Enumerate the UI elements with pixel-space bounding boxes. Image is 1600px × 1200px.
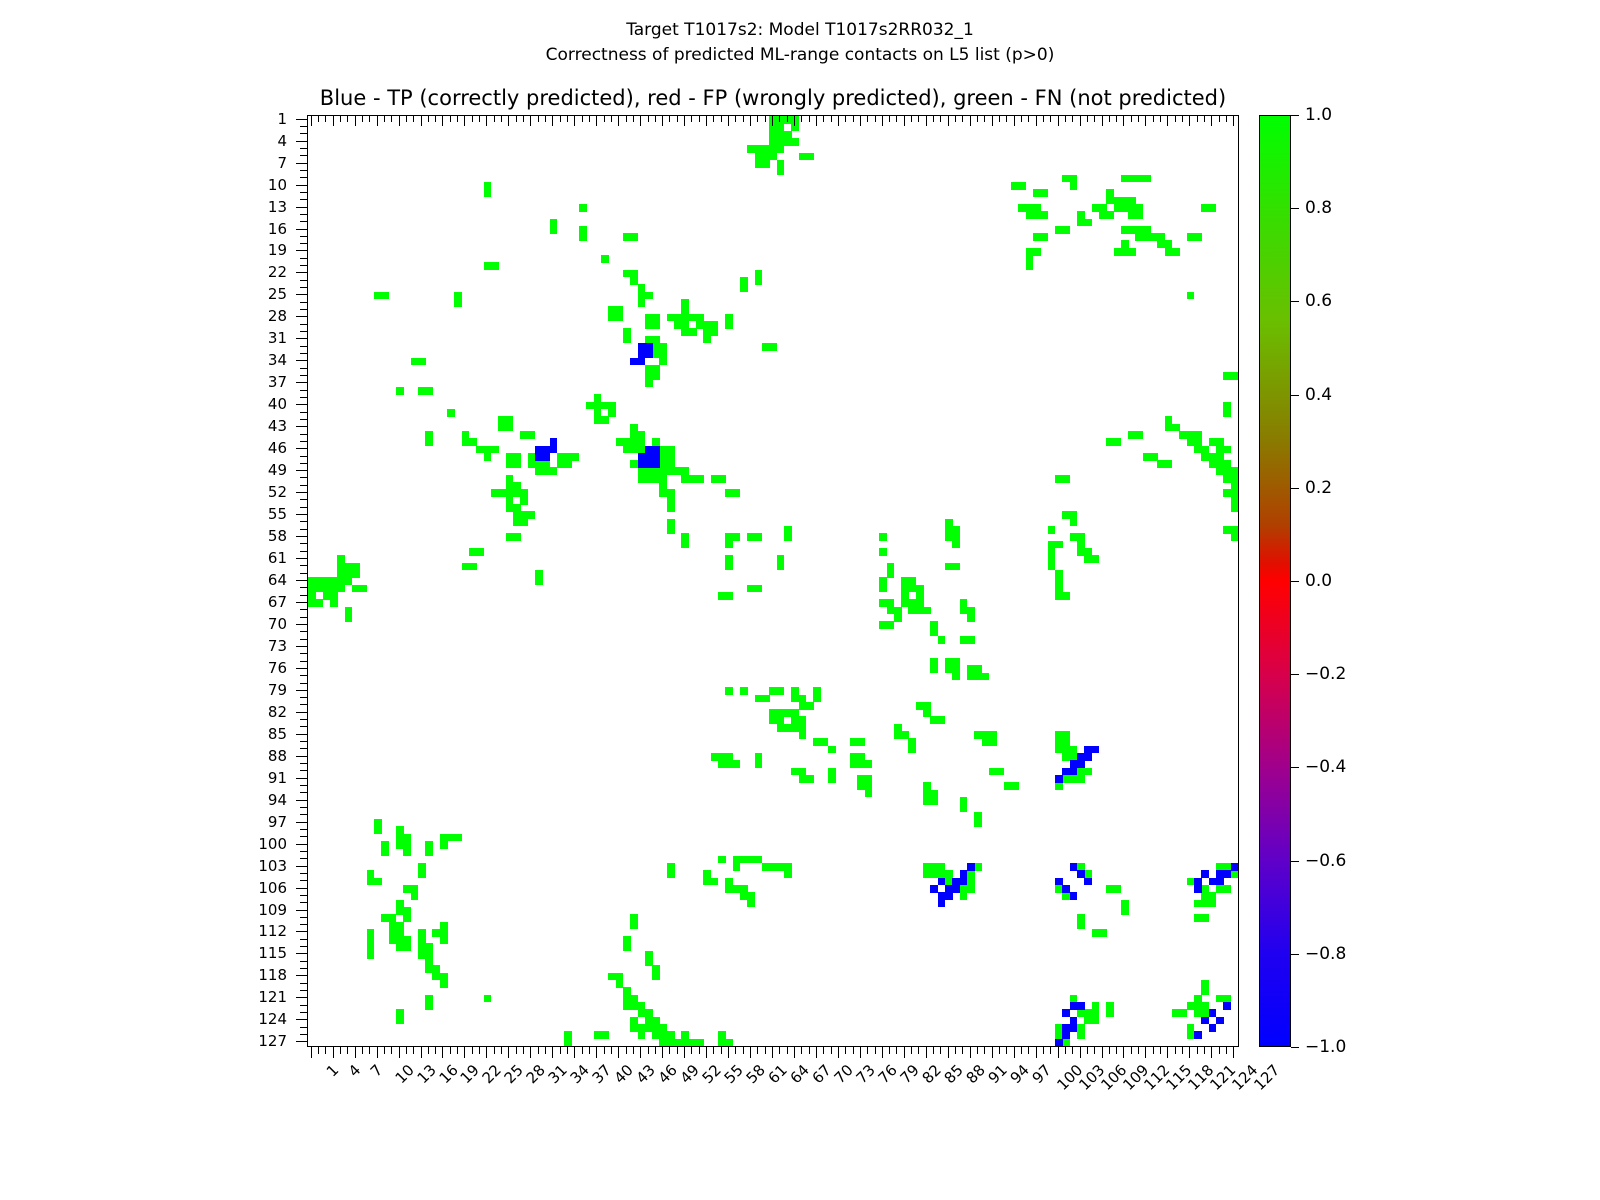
x-tick-top bbox=[926, 115, 927, 126]
x-tick-top bbox=[369, 115, 370, 122]
x-tick-top bbox=[1197, 115, 1198, 122]
contact-cell-fn bbox=[879, 585, 887, 593]
contact-cell-fn bbox=[1231, 489, 1239, 497]
x-tick-major bbox=[1102, 1047, 1103, 1058]
y-tick-minor bbox=[300, 441, 307, 442]
x-tick-top bbox=[311, 115, 312, 126]
x-tick-major bbox=[1058, 1047, 1059, 1058]
y-tick-label: 118 bbox=[258, 966, 287, 984]
contact-cell-fn bbox=[755, 760, 763, 768]
x-tick-minor bbox=[472, 1047, 473, 1054]
contact-cell-fn bbox=[1106, 189, 1114, 197]
contact-cell-fn bbox=[1055, 541, 1063, 549]
y-tick-major bbox=[296, 800, 307, 801]
contact-cell-tp bbox=[1055, 775, 1063, 783]
x-tick-top bbox=[896, 115, 897, 122]
x-tick-minor bbox=[933, 1047, 934, 1054]
x-tick-minor bbox=[523, 1047, 524, 1054]
y-tick-minor bbox=[300, 983, 307, 984]
contact-cell-tp bbox=[652, 460, 660, 468]
y-tick-minor bbox=[300, 170, 307, 171]
x-tick-top bbox=[1036, 115, 1037, 126]
y-tick-minor bbox=[300, 726, 307, 727]
contact-cell-fn bbox=[403, 936, 411, 944]
y-tick-major bbox=[296, 975, 307, 976]
contact-cell-fn bbox=[930, 790, 938, 798]
x-tick-minor bbox=[1072, 1047, 1073, 1054]
x-tick-top bbox=[633, 115, 634, 122]
x-tick-major bbox=[838, 1047, 839, 1058]
y-tick-minor bbox=[300, 968, 307, 969]
contact-cell-fn bbox=[982, 673, 990, 681]
contact-cell-tp bbox=[938, 878, 946, 886]
x-tick-minor bbox=[1021, 1047, 1022, 1054]
y-tick-major bbox=[296, 163, 307, 164]
contact-cell-fn bbox=[337, 570, 345, 578]
y-tick-minor bbox=[300, 661, 307, 662]
contact-cell-fn bbox=[535, 577, 543, 585]
x-tick-top bbox=[1160, 115, 1161, 122]
x-tick-top bbox=[648, 115, 649, 122]
x-tick-major bbox=[1211, 1047, 1212, 1058]
y-tick-minor bbox=[300, 148, 307, 149]
x-tick-major bbox=[992, 1047, 993, 1058]
contact-cell-fn bbox=[938, 636, 946, 644]
x-tick-minor bbox=[545, 1047, 546, 1054]
x-tick-top bbox=[970, 115, 971, 126]
y-tick-major bbox=[296, 229, 307, 230]
x-tick-top bbox=[1219, 115, 1220, 122]
contact-cell-fn bbox=[630, 438, 638, 446]
y-tick-minor bbox=[300, 397, 307, 398]
x-tick-minor bbox=[896, 1047, 897, 1054]
y-tick-minor bbox=[300, 280, 307, 281]
contact-cell-fn bbox=[623, 943, 631, 951]
x-tick-minor bbox=[875, 1047, 876, 1054]
y-tick-minor bbox=[300, 704, 307, 705]
x-tick-minor bbox=[589, 1047, 590, 1054]
colorbar-tick-label: −1.0 bbox=[1305, 1037, 1346, 1057]
contact-cell-fn bbox=[1114, 248, 1122, 256]
y-tick-minor bbox=[300, 961, 307, 962]
x-tick-top bbox=[831, 115, 832, 122]
x-tick-top bbox=[889, 115, 890, 122]
contact-cell-tp bbox=[1201, 870, 1209, 878]
x-axis-top-ticks bbox=[307, 115, 1239, 132]
colorbar-tick-label: −0.4 bbox=[1305, 757, 1346, 777]
x-tick-top bbox=[765, 115, 766, 122]
x-tick-label: 4 bbox=[344, 1061, 363, 1080]
x-tick-major bbox=[1036, 1047, 1037, 1058]
x-tick-minor bbox=[1197, 1047, 1198, 1054]
x-tick-major bbox=[311, 1047, 312, 1058]
y-tick-label: 94 bbox=[268, 791, 287, 809]
contact-cell-fn bbox=[506, 424, 514, 432]
contact-cell-fn bbox=[806, 702, 814, 710]
x-tick-top bbox=[684, 115, 685, 126]
contact-cell-fn bbox=[681, 541, 689, 549]
x-tick-top bbox=[713, 115, 714, 122]
x-tick-label: 1 bbox=[322, 1061, 341, 1080]
contact-cell-fn bbox=[755, 277, 763, 285]
y-tick-minor bbox=[300, 785, 307, 786]
contact-cell-fn bbox=[1062, 475, 1070, 483]
x-tick-top bbox=[699, 115, 700, 122]
x-tick-top bbox=[933, 115, 934, 122]
y-tick-minor bbox=[300, 829, 307, 830]
x-tick-minor bbox=[516, 1047, 517, 1054]
x-tick-top bbox=[340, 115, 341, 122]
y-tick-minor bbox=[300, 807, 307, 808]
y-tick-major bbox=[296, 558, 307, 559]
contact-cell-fn bbox=[784, 870, 792, 878]
contact-cell-fn bbox=[1128, 211, 1136, 219]
contact-cell-fn bbox=[850, 760, 858, 768]
contact-cell-tp bbox=[1194, 1031, 1202, 1039]
contact-cell-tp bbox=[1062, 1031, 1070, 1039]
contact-cell-tp bbox=[1077, 760, 1085, 768]
contact-cell-fn bbox=[425, 438, 433, 446]
y-tick-minor bbox=[300, 331, 307, 332]
y-tick-minor bbox=[300, 529, 307, 530]
y-tick-label: 19 bbox=[268, 241, 287, 259]
y-tick-label: 46 bbox=[268, 439, 287, 457]
x-tick-major bbox=[706, 1047, 707, 1058]
x-tick-top bbox=[1189, 115, 1190, 126]
contact-cell-tp bbox=[967, 863, 975, 871]
contact-cell-fn bbox=[659, 358, 667, 366]
y-tick-minor bbox=[300, 880, 307, 881]
y-tick-minor bbox=[300, 814, 307, 815]
x-tick-minor bbox=[911, 1047, 912, 1054]
x-tick-top bbox=[1072, 115, 1073, 122]
y-tick-minor bbox=[300, 243, 307, 244]
x-tick-top bbox=[918, 115, 919, 122]
contact-cell-fn bbox=[418, 358, 426, 366]
contact-cell-fn bbox=[1084, 768, 1092, 776]
x-tick-top bbox=[1006, 115, 1007, 122]
colorbar-tick-label: 0.0 bbox=[1305, 571, 1332, 591]
x-tick-top bbox=[552, 115, 553, 126]
contact-cell-fn bbox=[777, 724, 785, 732]
contact-cell-tp bbox=[535, 453, 543, 461]
y-tick-minor bbox=[300, 573, 307, 574]
colorbar[interactable]: 1.00.80.60.40.20.0−0.2−0.4−0.6−0.8−1.0 bbox=[1259, 115, 1291, 1047]
x-tick-top bbox=[948, 115, 949, 126]
x-tick-top bbox=[618, 115, 619, 126]
y-tick-label: 28 bbox=[268, 307, 287, 325]
y-tick-label: 22 bbox=[268, 263, 287, 281]
contact-cell-fn bbox=[623, 336, 631, 344]
contact-map-plot[interactable] bbox=[307, 115, 1239, 1047]
x-tick-major bbox=[530, 1047, 531, 1058]
x-tick-top bbox=[1109, 115, 1110, 122]
y-tick-minor bbox=[300, 617, 307, 618]
y-tick-label: 43 bbox=[268, 417, 287, 435]
colorbar-tick-label: −0.2 bbox=[1305, 664, 1346, 684]
y-tick-major bbox=[296, 602, 307, 603]
contact-cell-tp bbox=[938, 900, 946, 908]
colorbar-tick-label: 0.2 bbox=[1305, 478, 1332, 498]
contact-cell-fn bbox=[1011, 782, 1019, 790]
x-tick-minor bbox=[984, 1047, 985, 1054]
contact-cell-fn bbox=[491, 446, 499, 454]
x-tick-minor bbox=[1131, 1047, 1132, 1054]
x-tick-top bbox=[479, 115, 480, 122]
x-tick-minor bbox=[1226, 1047, 1227, 1054]
x-tick-top bbox=[377, 115, 378, 126]
x-tick-top bbox=[801, 115, 802, 122]
colorbar-tick bbox=[1291, 208, 1299, 209]
y-tick-label: 64 bbox=[268, 571, 287, 589]
x-tick-top bbox=[911, 115, 912, 122]
contact-cell-fn bbox=[762, 145, 770, 153]
x-tick-top bbox=[611, 115, 612, 122]
x-tick-top bbox=[1123, 115, 1124, 126]
contact-cell-fn bbox=[498, 489, 506, 497]
y-tick-minor bbox=[300, 302, 307, 303]
x-tick-minor bbox=[567, 1047, 568, 1054]
y-tick-label: 55 bbox=[268, 505, 287, 523]
contact-cell-fn bbox=[1223, 526, 1231, 534]
y-tick-minor bbox=[300, 126, 307, 127]
contact-cell-fn bbox=[1172, 248, 1180, 256]
x-tick-top bbox=[391, 115, 392, 122]
contact-cell-fn bbox=[733, 489, 741, 497]
x-tick-major bbox=[1145, 1047, 1146, 1058]
x-tick-major bbox=[882, 1047, 883, 1058]
colorbar-gradient bbox=[1259, 115, 1291, 1047]
y-tick-minor bbox=[300, 770, 307, 771]
contact-cell-fn bbox=[564, 460, 572, 468]
x-tick-minor bbox=[413, 1047, 414, 1054]
contact-cell-fn bbox=[828, 746, 836, 754]
y-tick-major bbox=[296, 624, 307, 625]
x-tick-major bbox=[904, 1047, 905, 1058]
x-tick-top bbox=[421, 115, 422, 126]
colorbar-tick-label: 1.0 bbox=[1305, 105, 1332, 125]
x-tick-top bbox=[413, 115, 414, 122]
x-tick-minor bbox=[362, 1047, 363, 1054]
contact-cell-fn bbox=[674, 1039, 682, 1047]
x-tick-top bbox=[662, 115, 663, 126]
contact-cell-tp bbox=[542, 446, 550, 454]
y-tick-label: 49 bbox=[268, 461, 287, 479]
y-tick-minor bbox=[300, 675, 307, 676]
contact-cell-fn bbox=[1121, 240, 1129, 248]
x-tick-top bbox=[560, 115, 561, 122]
contact-cell-fn bbox=[367, 951, 375, 959]
contact-cell-fn bbox=[630, 233, 638, 241]
x-tick-minor bbox=[867, 1047, 868, 1054]
x-tick-major bbox=[596, 1047, 597, 1058]
y-tick-minor bbox=[300, 258, 307, 259]
x-tick-minor bbox=[713, 1047, 714, 1054]
x-tick-top bbox=[574, 115, 575, 126]
x-tick-minor bbox=[648, 1047, 649, 1054]
y-tick-label: 34 bbox=[268, 351, 287, 369]
contact-cell-fn bbox=[440, 936, 448, 944]
contact-cell-fn bbox=[696, 475, 704, 483]
y-tick-minor bbox=[300, 346, 307, 347]
x-tick-top bbox=[1094, 115, 1095, 122]
contact-cell-fn bbox=[1077, 922, 1085, 930]
x-tick-top bbox=[626, 115, 627, 122]
x-tick-minor bbox=[853, 1047, 854, 1054]
x-tick-major bbox=[355, 1047, 356, 1058]
contact-cell-fn bbox=[381, 292, 389, 300]
x-tick-major bbox=[728, 1047, 729, 1058]
y-tick-minor bbox=[300, 551, 307, 552]
x-tick-top bbox=[787, 115, 788, 122]
x-tick-major bbox=[684, 1047, 685, 1058]
contact-cell-fn bbox=[1231, 526, 1239, 534]
y-tick-major bbox=[296, 712, 307, 713]
y-tick-label: 52 bbox=[268, 483, 287, 501]
y-tick-label: 121 bbox=[258, 988, 287, 1006]
x-tick-minor bbox=[845, 1047, 846, 1054]
x-tick-minor bbox=[743, 1047, 744, 1054]
x-tick-top bbox=[1087, 115, 1088, 122]
x-tick-top bbox=[582, 115, 583, 122]
y-tick-label: 109 bbox=[258, 901, 287, 919]
contact-cell-fn bbox=[1165, 460, 1173, 468]
x-tick-minor bbox=[699, 1047, 700, 1054]
y-tick-minor bbox=[300, 521, 307, 522]
y-tick-major bbox=[296, 272, 307, 273]
y-tick-minor bbox=[300, 565, 307, 566]
x-tick-major bbox=[860, 1047, 861, 1058]
x-tick-major bbox=[970, 1047, 971, 1058]
y-axis: 1471013161922252831343740434649525558616… bbox=[290, 115, 307, 1047]
x-tick-major bbox=[574, 1047, 575, 1058]
x-tick-top bbox=[589, 115, 590, 122]
contact-cell-fn bbox=[1026, 262, 1034, 270]
contact-cell-fn bbox=[777, 687, 785, 695]
y-tick-minor bbox=[300, 485, 307, 486]
contact-cell-tp bbox=[652, 446, 660, 454]
contact-cell-fn bbox=[762, 695, 770, 703]
contact-cell-fn bbox=[1231, 533, 1239, 541]
y-tick-minor bbox=[300, 375, 307, 376]
x-tick-top bbox=[1058, 115, 1059, 126]
y-tick-minor bbox=[300, 265, 307, 266]
contact-cell-fn bbox=[315, 577, 323, 585]
contact-cell-tp bbox=[945, 892, 953, 900]
contact-cell-fn bbox=[601, 255, 609, 263]
contact-cell-fn bbox=[337, 585, 345, 593]
y-tick-label: 37 bbox=[268, 373, 287, 391]
contact-cell-fn bbox=[952, 673, 960, 681]
contact-cell-fn bbox=[564, 1039, 572, 1047]
x-tick-minor bbox=[325, 1047, 326, 1054]
y-tick-minor bbox=[300, 463, 307, 464]
x-tick-major bbox=[816, 1047, 817, 1058]
x-tick-top bbox=[1102, 115, 1103, 126]
contact-cell-tp bbox=[1216, 878, 1224, 886]
colorbar-tick-label: 0.4 bbox=[1305, 385, 1332, 405]
colorbar-tick bbox=[1291, 395, 1299, 396]
contact-cell-fn bbox=[1201, 987, 1209, 995]
x-tick-top bbox=[1080, 115, 1081, 126]
y-tick-minor bbox=[300, 924, 307, 925]
contact-cell-fn bbox=[652, 321, 660, 329]
contact-cell-fn bbox=[865, 760, 873, 768]
y-tick-major bbox=[296, 470, 307, 471]
y-tick-minor bbox=[300, 1005, 307, 1006]
x-tick-minor bbox=[626, 1047, 627, 1054]
contact-cell-tp bbox=[1231, 863, 1239, 871]
contact-cell-fn bbox=[601, 1031, 609, 1039]
contact-cell-fn bbox=[1187, 292, 1195, 300]
x-tick-minor bbox=[1153, 1047, 1154, 1054]
contact-cell-fn bbox=[484, 453, 492, 461]
x-tick-major bbox=[486, 1047, 487, 1058]
y-tick-major bbox=[296, 360, 307, 361]
y-tick-major bbox=[296, 514, 307, 515]
x-tick-top bbox=[333, 115, 334, 126]
contact-cell-tp bbox=[1070, 863, 1078, 871]
suptitle-line-1: Target T1017s2: Model T1017s2RR032_1 bbox=[626, 20, 974, 40]
x-tick-minor bbox=[340, 1047, 341, 1054]
colorbar-tick bbox=[1291, 861, 1299, 862]
contact-cell-fn bbox=[1114, 438, 1122, 446]
contact-cell-fn bbox=[1231, 482, 1239, 490]
x-tick-top bbox=[757, 115, 758, 122]
contact-cell-fn bbox=[667, 870, 675, 878]
contact-cell-fn bbox=[616, 314, 624, 322]
contact-cell-fn bbox=[667, 504, 675, 512]
y-tick-minor bbox=[300, 155, 307, 156]
contact-cell-fn bbox=[1070, 182, 1078, 190]
x-tick-major bbox=[926, 1047, 927, 1058]
contact-cell-fn bbox=[1106, 1009, 1114, 1017]
x-tick-top bbox=[677, 115, 678, 122]
y-tick-major bbox=[296, 492, 307, 493]
contact-cell-fn bbox=[755, 533, 763, 541]
x-tick-top bbox=[735, 115, 736, 122]
contact-cell-fn bbox=[1040, 211, 1048, 219]
contact-cell-tp bbox=[550, 446, 558, 454]
x-tick-major bbox=[618, 1047, 619, 1058]
y-tick-label: 85 bbox=[268, 725, 287, 743]
contact-cell-fn bbox=[689, 328, 697, 336]
x-tick-minor bbox=[1006, 1047, 1007, 1054]
x-tick-top bbox=[728, 115, 729, 126]
contact-cell-fn bbox=[996, 768, 1004, 776]
contact-cell-tp bbox=[645, 350, 653, 358]
x-tick-minor bbox=[560, 1047, 561, 1054]
x-tick-top bbox=[1167, 115, 1168, 126]
contact-cell-fn bbox=[1194, 233, 1202, 241]
y-tick-minor bbox=[300, 873, 307, 874]
contact-cell-fn bbox=[381, 914, 389, 922]
y-tick-minor bbox=[300, 477, 307, 478]
y-tick-major bbox=[296, 1019, 307, 1020]
y-tick-label: 13 bbox=[268, 198, 287, 216]
colorbar-tick-label: 0.6 bbox=[1305, 291, 1332, 311]
contact-cell-fn bbox=[725, 541, 733, 549]
contact-cell-fn bbox=[1018, 182, 1026, 190]
contact-cell-fn bbox=[740, 687, 748, 695]
y-tick-label: 67 bbox=[268, 593, 287, 611]
y-tick-label: 106 bbox=[258, 879, 287, 897]
x-tick-top bbox=[984, 115, 985, 122]
contact-cell-fn bbox=[916, 585, 924, 593]
x-tick-top bbox=[706, 115, 707, 126]
x-tick-minor bbox=[889, 1047, 890, 1054]
x-tick-minor bbox=[823, 1047, 824, 1054]
